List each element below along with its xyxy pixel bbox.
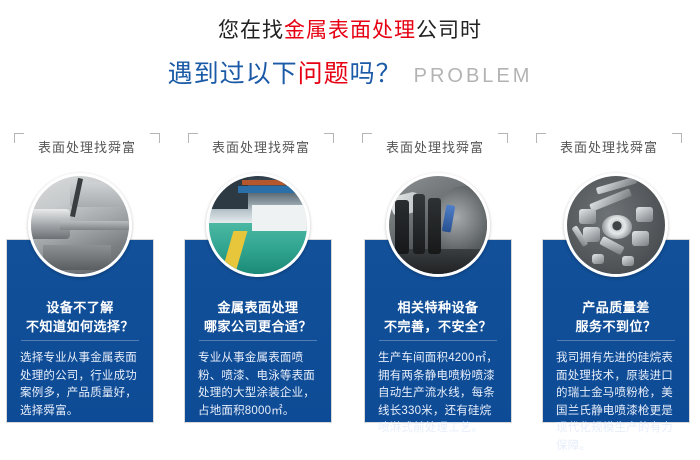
problem-card[interactable]: 表面处理找舜富 设备不了解 不知道如何选择？ 选择专业从事金属表面处理的公司，行… <box>6 131 168 431</box>
headline-primary-highlight: 金属表面处理 <box>284 19 416 42</box>
card-divider <box>21 340 139 341</box>
card-title-line1: 产品质量差 <box>543 298 689 317</box>
promo-banner: 您在找金属表面处理公司时 遇到过以下问题吗？PROBLEM 表面处理找舜富 设备… <box>0 0 700 460</box>
card-title: 金属表面处理 哪家公司更合适？ <box>185 298 331 336</box>
card-title-line2: 不知道如何选择？ <box>7 317 153 336</box>
card-tagline-label: 表面处理找舜富 <box>560 137 658 156</box>
headline-secondary-suffix: 吗？ <box>350 60 402 88</box>
card-divider <box>379 340 497 341</box>
card-tagline: 表面处理找舜富 <box>12 131 162 161</box>
card-title: 产品质量差 服务不到位？ <box>543 298 689 336</box>
headline-primary: 您在找金属表面处理公司时 <box>0 16 700 46</box>
card-title-line1: 设备不了解 <box>7 298 153 317</box>
card-title-line2: 服务不到位？ <box>543 317 689 336</box>
card-tagline: 表面处理找舜富 <box>534 131 684 161</box>
headline-primary-prefix: 您在找 <box>218 19 284 42</box>
card-tagline-label: 表面处理找舜富 <box>386 137 484 156</box>
card-divider <box>557 340 675 341</box>
bolts-fasteners-photo <box>564 173 668 277</box>
headline-english-label: PROBLEM <box>414 65 533 87</box>
headline-primary-suffix: 公司时 <box>416 19 482 42</box>
problem-card[interactable]: 表面处理找舜富 相关特种设备 不完善，不安全？ 生产车间面积4200㎡，拥有两条… <box>354 131 516 431</box>
card-title-line2: 不完善，不安全？ <box>365 317 511 336</box>
card-body: 专业从事金属表面喷粉、喷漆、电泳等表面处理的大型涂装企业，占地面积8000㎡。 <box>198 350 320 420</box>
machining-tools-photo <box>386 173 490 277</box>
card-title: 相关特种设备 不完善，不安全？ <box>365 298 511 336</box>
problem-card[interactable]: 表面处理找舜富 金属表面处理 哪家公司更合适？ 专业从事金属表面喷粉、喷漆、电泳… <box>180 131 342 431</box>
card-divider <box>199 340 317 341</box>
card-title-line2: 哪家公司更合适？ <box>185 317 331 336</box>
card-tagline-label: 表面处理找舜富 <box>212 137 310 156</box>
card-tagline-label: 表面处理找舜富 <box>38 137 136 156</box>
card-title: 设备不了解 不知道如何选择？ <box>7 298 153 336</box>
card-tagline: 表面处理找舜富 <box>186 131 336 161</box>
card-body: 选择专业从事金属表面处理的公司，行业成功案例多，产品质量好，选择舜富。 <box>20 350 142 420</box>
headline-secondary-highlight: 问题 <box>298 60 350 88</box>
problem-card-list: 表面处理找舜富 设备不了解 不知道如何选择？ 选择专业从事金属表面处理的公司，行… <box>0 131 700 431</box>
card-title-line1: 金属表面处理 <box>185 298 331 317</box>
heading-block: 您在找金属表面处理公司时 遇到过以下问题吗？PROBLEM <box>0 16 700 93</box>
problem-card[interactable]: 表面处理找舜富 产品质量差 服务不到位？ 我司拥有先进的硅烷表面处理技术，原装进… <box>528 131 690 431</box>
factory-workshop-photo <box>206 173 310 277</box>
lathe-machine-photo <box>28 173 132 277</box>
headline-secondary: 遇到过以下问题吗？PROBLEM <box>0 57 700 93</box>
card-body: 我司拥有先进的硅烷表面处理技术，原装进口的瑞士金马喷粉枪，美国兰氏静电喷漆枪更是… <box>556 350 678 455</box>
headline-secondary-prefix: 遇到过以下 <box>168 60 298 88</box>
card-title-line1: 相关特种设备 <box>365 298 511 317</box>
card-tagline: 表面处理找舜富 <box>360 131 510 161</box>
card-body: 生产车间面积4200㎡，拥有两条静电喷粉喷漆自动生产流水线，每条线长330米，还… <box>378 350 500 438</box>
